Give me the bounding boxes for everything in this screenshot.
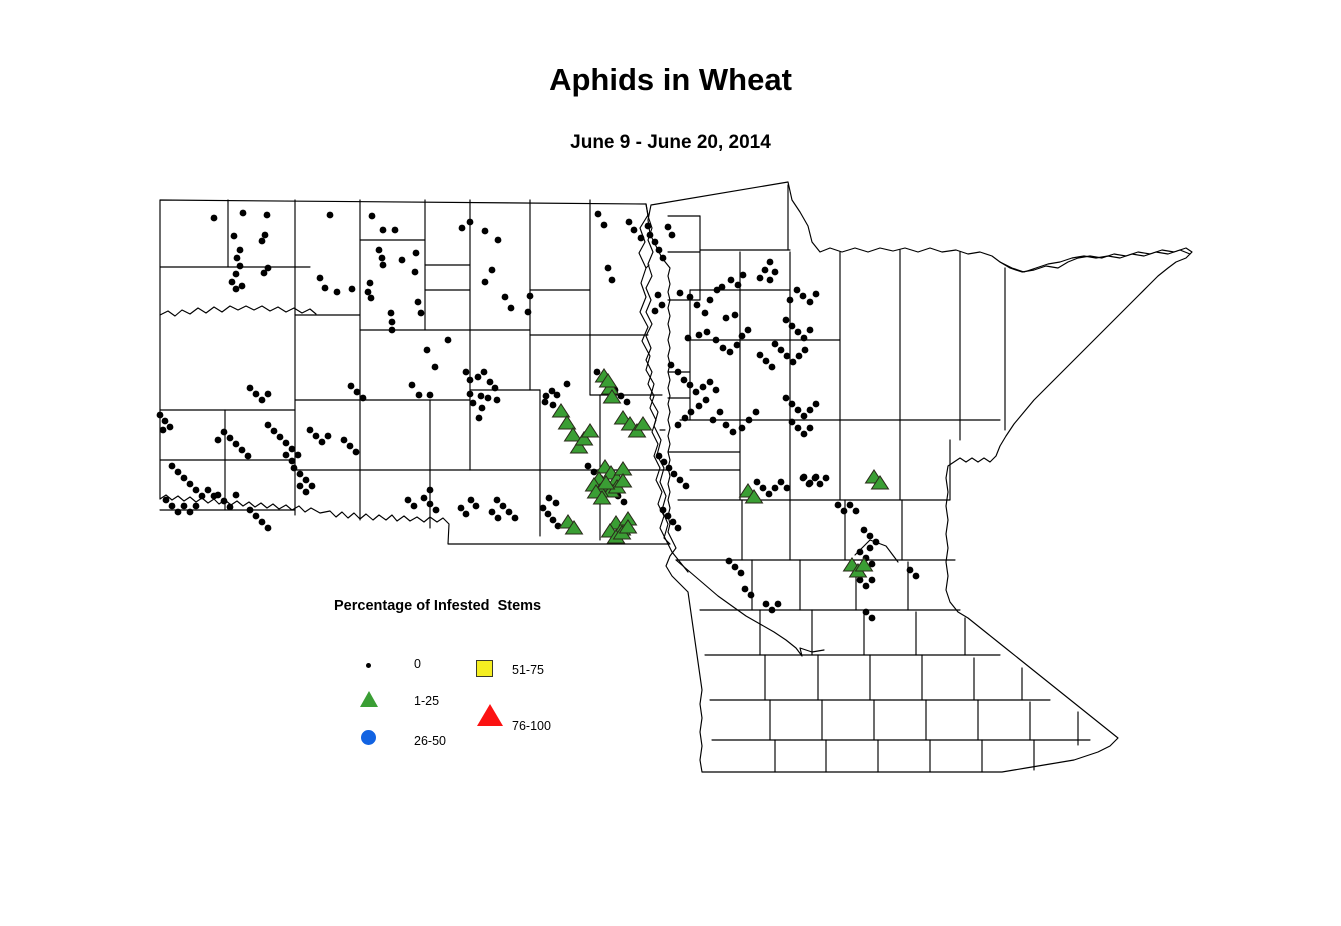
data-point-zero [237, 263, 244, 270]
data-point-zero [325, 433, 332, 440]
data-point-zero [221, 429, 228, 436]
data-point-zero [199, 493, 206, 500]
data-point-zero [605, 265, 612, 272]
data-point-zero [392, 227, 399, 234]
data-point-zero [265, 422, 272, 429]
data-point-zero [187, 481, 194, 488]
data-point-zero [546, 495, 553, 502]
data-point-zero [265, 391, 272, 398]
data-point-zero [543, 393, 550, 400]
data-point-zero [309, 483, 316, 490]
data-point-zero [277, 434, 284, 441]
data-point-zero [432, 364, 439, 371]
data-point-zero [233, 441, 240, 448]
data-point-zero [494, 497, 501, 504]
data-point-zero [193, 503, 200, 510]
data-point-zero [813, 474, 820, 481]
data-point-zero [723, 422, 730, 429]
data-point-zero [319, 439, 326, 446]
aphid-map-page: Aphids in Wheat June 9 - June 20, 2014 [0, 0, 1341, 926]
data-point-zero [433, 507, 440, 514]
data-point-zero [418, 310, 425, 317]
data-point-zero [489, 509, 496, 516]
data-point-zero [621, 499, 628, 506]
data-point-zero [847, 502, 854, 509]
data-point-zero [704, 329, 711, 336]
data-point-zero [479, 405, 486, 412]
data-point-zero [349, 286, 356, 293]
data-point-zero [297, 471, 304, 478]
data-point-zero [823, 475, 830, 482]
data-point-zero [187, 509, 194, 516]
data-point-zero [753, 409, 760, 416]
data-point-zero [411, 503, 418, 510]
data-point-zero [738, 570, 745, 577]
data-point-zero [553, 500, 560, 507]
data-point-zero [772, 269, 779, 276]
data-point-zero [413, 250, 420, 257]
data-point-zero [494, 397, 501, 404]
data-point-zero [283, 440, 290, 447]
data-point-zero [424, 347, 431, 354]
data-point-zero [778, 347, 785, 354]
data-point-zero [801, 474, 808, 481]
data-point-zero [601, 222, 608, 229]
data-point-zero [754, 479, 761, 486]
data-point-zero [233, 271, 240, 278]
data-point-zero [681, 377, 688, 384]
data-point-zero [787, 297, 794, 304]
data-point-zero [730, 429, 737, 436]
data-point-zero [262, 232, 269, 239]
data-point-zero [656, 453, 663, 460]
data-point-zero [247, 385, 254, 392]
data-point-zero [813, 291, 820, 298]
data-point-zero [713, 337, 720, 344]
data-point-zero [693, 389, 700, 396]
data-point-zero [609, 277, 616, 284]
data-point-zero [485, 395, 492, 402]
data-point-zero [775, 601, 782, 608]
data-point-zero [763, 358, 770, 365]
data-point-zero [181, 503, 188, 510]
data-point-zero [666, 465, 673, 472]
data-point-zero [835, 502, 842, 509]
legend-small-black-dot-icon [366, 663, 371, 668]
data-point-green-triangle [615, 462, 632, 475]
data-point-zero [239, 447, 246, 454]
data-point-zero [253, 513, 260, 520]
data-point-zero [841, 508, 848, 515]
data-point-zero [631, 227, 638, 234]
data-point-zero [795, 329, 802, 336]
data-point-zero [295, 452, 302, 459]
data-point-zero [670, 519, 677, 526]
data-point-zero [482, 279, 489, 286]
data-point-zero [229, 279, 236, 286]
data-point-zero [687, 382, 694, 389]
data-point-zero [347, 443, 354, 450]
data-point-zero [160, 427, 167, 434]
data-point-zero [720, 345, 727, 352]
data-point-zero [467, 377, 474, 384]
data-point-zero [702, 310, 709, 317]
data-point-zero [379, 255, 386, 262]
data-point-zero [245, 453, 252, 460]
data-point-green-triangle [582, 424, 599, 437]
map-legend: Percentage of Infested Stems 0 1-25 26-5… [334, 598, 594, 768]
data-point-zero [463, 369, 470, 376]
data-point-zero [801, 413, 808, 420]
data-point-zero [489, 267, 496, 274]
data-point-zero [492, 385, 499, 392]
data-point-zero [807, 299, 814, 306]
data-point-zero [784, 485, 791, 492]
data-point-zero [913, 573, 920, 580]
data-point-zero [789, 419, 796, 426]
data-point-zero [540, 505, 547, 512]
data-point-zero [707, 297, 714, 304]
data-point-zero [696, 332, 703, 339]
data-point-zero [412, 269, 419, 276]
data-point-zero [459, 225, 466, 232]
data-point-zero [817, 481, 824, 488]
data-point-zero [802, 347, 809, 354]
data-point-zero [506, 509, 513, 516]
data-point-zero [873, 539, 880, 546]
data-point-zero [495, 237, 502, 244]
data-point-zero [807, 425, 814, 432]
legend-green-triangle-icon [360, 691, 378, 707]
data-point-zero [389, 319, 396, 326]
data-point-zero [353, 449, 360, 456]
data-point-zero [585, 463, 592, 470]
data-point-zero [665, 224, 672, 231]
legend-title: Percentage of Infested Stems [334, 598, 541, 614]
data-point-zero [303, 489, 310, 496]
data-point-zero [660, 255, 667, 262]
data-point-zero [660, 507, 667, 514]
data-point-zero [527, 293, 534, 300]
data-point-zero [739, 333, 746, 340]
data-point-zero [794, 287, 801, 294]
data-point-zero [193, 487, 200, 494]
data-point-zero [233, 286, 240, 293]
data-point-zero [757, 352, 764, 359]
data-point-zero [508, 305, 515, 312]
data-point-zero [365, 289, 372, 296]
data-point-zero [317, 275, 324, 282]
data-point-zero [801, 431, 808, 438]
data-point-zero [175, 469, 182, 476]
data-point-zero [645, 223, 652, 230]
data-point-zero [467, 219, 474, 226]
data-point-zero [303, 477, 310, 484]
data-point-zero [231, 233, 238, 240]
data-point-zero [857, 577, 864, 584]
data-point-zero [696, 403, 703, 410]
data-point-zero [869, 615, 876, 622]
data-point-zero [675, 369, 682, 376]
data-point-zero [739, 425, 746, 432]
data-point-zero [467, 391, 474, 398]
data-point-zero [211, 215, 218, 222]
data-point-zero [735, 282, 742, 289]
data-point-zero [677, 477, 684, 484]
data-point-zero [264, 212, 271, 219]
data-point-zero [769, 364, 776, 371]
data-point-zero [247, 507, 254, 514]
data-point-zero [813, 401, 820, 408]
data-point-zero [652, 308, 659, 315]
data-point-zero [861, 527, 868, 534]
data-point-zero [409, 382, 416, 389]
data-point-zero [685, 335, 692, 342]
data-point-zero [163, 497, 170, 504]
data-point-zero [259, 519, 266, 526]
data-point-zero [732, 564, 739, 571]
data-point-zero [354, 389, 361, 396]
data-point-zero [239, 283, 246, 290]
data-point-zero [734, 342, 741, 349]
data-point-zero [766, 491, 773, 498]
data-point-zero [675, 525, 682, 532]
data-point-zero [626, 219, 633, 226]
data-point-zero [719, 284, 726, 291]
legend-label-2: 26-50 [414, 734, 446, 748]
data-point-zero [481, 369, 488, 376]
data-point-zero [726, 558, 733, 565]
data-point-zero [638, 235, 645, 242]
data-point-zero [682, 415, 689, 422]
data-point-zero [688, 409, 695, 416]
data-point-zero [762, 267, 769, 274]
data-point-zero [661, 459, 668, 466]
data-point-zero [655, 292, 662, 299]
data-point-zero [327, 212, 334, 219]
data-point-zero [221, 498, 228, 505]
data-point-zero [713, 387, 720, 394]
data-point-zero [495, 515, 502, 522]
data-point-zero [783, 395, 790, 402]
data-point-zero [700, 384, 707, 391]
data-point-zero [525, 309, 532, 316]
data-point-green-triangle [559, 416, 576, 429]
data-point-zero [237, 247, 244, 254]
data-point-zero [783, 317, 790, 324]
data-point-zero [369, 213, 376, 220]
data-point-zero [261, 270, 268, 277]
data-point-zero [175, 509, 182, 516]
data-point-zero [652, 239, 659, 246]
data-point-zero [380, 227, 387, 234]
data-point-zero [742, 586, 749, 593]
data-point-zero [348, 383, 355, 390]
data-point-zero [169, 503, 176, 510]
legend-blue-circle-icon [361, 730, 376, 745]
data-point-zero [421, 495, 428, 502]
legend-yellow-square-icon [476, 660, 493, 677]
data-point-zero [233, 492, 240, 499]
data-point-zero [732, 312, 739, 319]
data-point-zero [512, 515, 519, 522]
data-point-zero [801, 335, 808, 342]
data-point-zero [334, 289, 341, 296]
data-point-zero [746, 417, 753, 424]
data-point-zero [227, 504, 234, 511]
data-point-zero [668, 362, 675, 369]
data-point-zero [677, 290, 684, 297]
data-point-zero [427, 487, 434, 494]
data-point-zero [767, 277, 774, 284]
data-point-zero [694, 302, 701, 309]
map-canvas [0, 0, 1341, 926]
legend-label-3: 51-75 [512, 663, 544, 677]
data-point-zero [807, 480, 814, 487]
data-point-zero [624, 399, 631, 406]
data-point-zero [800, 293, 807, 300]
data-point-zero [240, 210, 247, 217]
data-point-zero [468, 497, 475, 504]
data-point-zero [763, 601, 770, 608]
data-point-zero [863, 583, 870, 590]
data-point-zero [772, 485, 779, 492]
data-point-zero [683, 483, 690, 490]
data-point-zero [659, 302, 666, 309]
data-point-zero [215, 437, 222, 444]
data-point-zero [227, 435, 234, 442]
data-point-zero [416, 392, 423, 399]
data-point-zero [790, 359, 797, 366]
data-point-zero [728, 277, 735, 284]
data-point-zero [291, 465, 298, 472]
data-point-zero [427, 501, 434, 508]
data-point-zero [727, 349, 734, 356]
data-point-zero [707, 379, 714, 386]
data-point-zero [470, 400, 477, 407]
data-point-zero [807, 407, 814, 414]
data-point-zero [545, 511, 552, 518]
data-point-zero [458, 505, 465, 512]
data-point-zero [857, 549, 864, 556]
data-point-zero [869, 577, 876, 584]
data-point-zero [427, 392, 434, 399]
data-point-zero [748, 592, 755, 599]
data-point-zero [475, 374, 482, 381]
data-point-zero [907, 567, 914, 574]
data-point-zero [367, 280, 374, 287]
data-point-zero [259, 397, 266, 404]
data-point-zero [478, 393, 485, 400]
data-point-zero [778, 479, 785, 486]
data-point-zero [476, 415, 483, 422]
data-point-zero [675, 422, 682, 429]
data-point-zero [376, 247, 383, 254]
data-point-zero [482, 228, 489, 235]
data-point-zero [473, 503, 480, 510]
data-point-zero [380, 262, 387, 269]
data-point-zero [445, 337, 452, 344]
data-point-zero [297, 483, 304, 490]
data-point-zero [157, 412, 164, 419]
data-point-zero [307, 427, 314, 434]
data-point-zero [671, 471, 678, 478]
data-point-zero [215, 492, 222, 499]
data-point-zero [717, 409, 724, 416]
data-point-zero [389, 327, 396, 334]
data-point-zero [542, 399, 549, 406]
data-point-zero [283, 452, 290, 459]
data-point-zero [740, 272, 747, 279]
data-point-zero [289, 446, 296, 453]
data-point-zero [169, 463, 176, 470]
data-point-zero [789, 401, 796, 408]
legend-label-1: 1-25 [414, 694, 439, 708]
data-point-zero [162, 418, 169, 425]
data-point-zero [289, 458, 296, 465]
legend-label-0: 0 [414, 657, 421, 671]
data-point-zero [550, 517, 557, 524]
data-point-zero [867, 545, 874, 552]
data-point-zero [399, 257, 406, 264]
data-point-zero [415, 299, 422, 306]
data-point-zero [341, 437, 348, 444]
data-point-zero [265, 525, 272, 532]
data-point-zero [772, 341, 779, 348]
data-point-zero [500, 503, 507, 510]
data-point-zero [253, 391, 260, 398]
data-point-zero [807, 327, 814, 334]
data-point-zero [595, 211, 602, 218]
data-point-zero [687, 294, 694, 301]
data-point-zero [487, 379, 494, 386]
data-point-zero [760, 485, 767, 492]
data-point-zero [796, 353, 803, 360]
data-point-zero [259, 238, 266, 245]
data-point-zero [767, 259, 774, 266]
data-point-zero [769, 607, 776, 614]
data-point-zero [863, 609, 870, 616]
legend-red-triangle-icon [477, 704, 503, 726]
data-point-zero [669, 232, 676, 239]
data-point-zero [463, 511, 470, 518]
data-point-zero [388, 310, 395, 317]
data-point-zero [591, 469, 598, 476]
map-svg [0, 0, 1341, 926]
data-point-zero [795, 425, 802, 432]
data-point-zero [723, 315, 730, 322]
data-point-zero [234, 255, 241, 262]
data-point-zero [795, 407, 802, 414]
data-point-zero [594, 369, 601, 376]
data-point-zero [784, 353, 791, 360]
data-point-zero [647, 232, 654, 239]
data-point-zero [564, 381, 571, 388]
data-point-zero [745, 327, 752, 334]
data-point-zero [502, 294, 509, 301]
data-point-zero [554, 392, 561, 399]
data-point-zero [313, 433, 320, 440]
data-point-zero [405, 497, 412, 504]
data-point-zero [710, 417, 717, 424]
data-point-zero [181, 475, 188, 482]
data-point-zero [322, 285, 329, 292]
data-point-zero [703, 397, 710, 404]
data-point-zero [205, 487, 212, 494]
data-point-zero [665, 513, 672, 520]
data-point-zero [368, 295, 375, 302]
legend-label-4: 76-100 [512, 719, 551, 733]
